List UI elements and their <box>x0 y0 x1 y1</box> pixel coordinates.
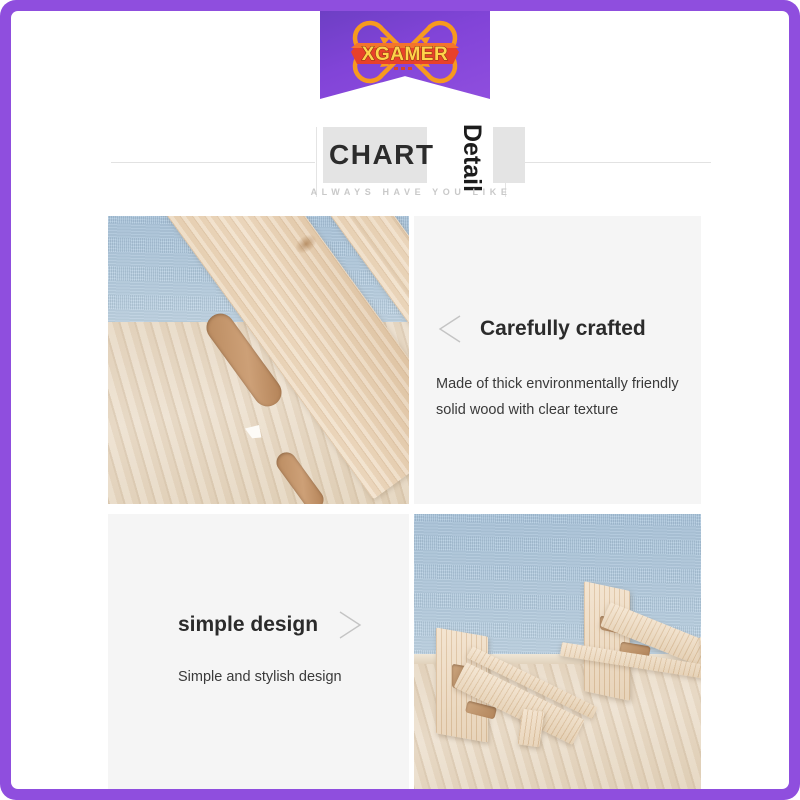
feature-description-1: Made of thick environmentally friendly s… <box>436 371 686 423</box>
page-title: CHART <box>329 139 435 171</box>
feature-row-simple-design: simple design Simple and stylish design <box>108 514 701 789</box>
image-canvas: XGAMER CHART Detail ALWAYS HAVE YOU LIKE <box>11 11 789 789</box>
tagline: ALWAYS HAVE YOU LIKE <box>111 187 711 197</box>
title-rule-right <box>507 162 711 163</box>
chevron-left-icon <box>434 312 468 346</box>
feature-photo-product <box>414 514 701 789</box>
product-detail-image: XGAMER CHART Detail ALWAYS HAVE YOU LIKE <box>0 0 800 800</box>
chevron-right-icon <box>332 608 366 642</box>
title-rule-left <box>111 162 315 163</box>
feature-photo-closeup <box>108 216 409 504</box>
logo-wordmark: XGAMER <box>362 44 448 65</box>
feature-description-2: Simple and stylish design <box>178 664 398 690</box>
feature-text-panel-2: simple design Simple and stylish design <box>108 514 409 789</box>
xgamer-logo: XGAMER <box>342 15 468 89</box>
feature-heading-2: simple design <box>178 613 318 637</box>
feature-row-carefully-crafted: Carefully crafted Made of thick environm… <box>108 216 701 504</box>
feature-heading-1: Carefully crafted <box>480 317 646 341</box>
feature-text-panel-1: Carefully crafted Made of thick environm… <box>414 216 701 504</box>
feature-heading-row-1: Carefully crafted <box>434 312 646 346</box>
feature-heading-row-2: simple design <box>178 608 366 642</box>
section-title-block: CHART Detail ALWAYS HAVE YOU LIKE <box>111 113 711 203</box>
page-title-rotated: Detail <box>441 124 503 186</box>
x-clover-badge-icon: XGAMER <box>342 15 468 89</box>
